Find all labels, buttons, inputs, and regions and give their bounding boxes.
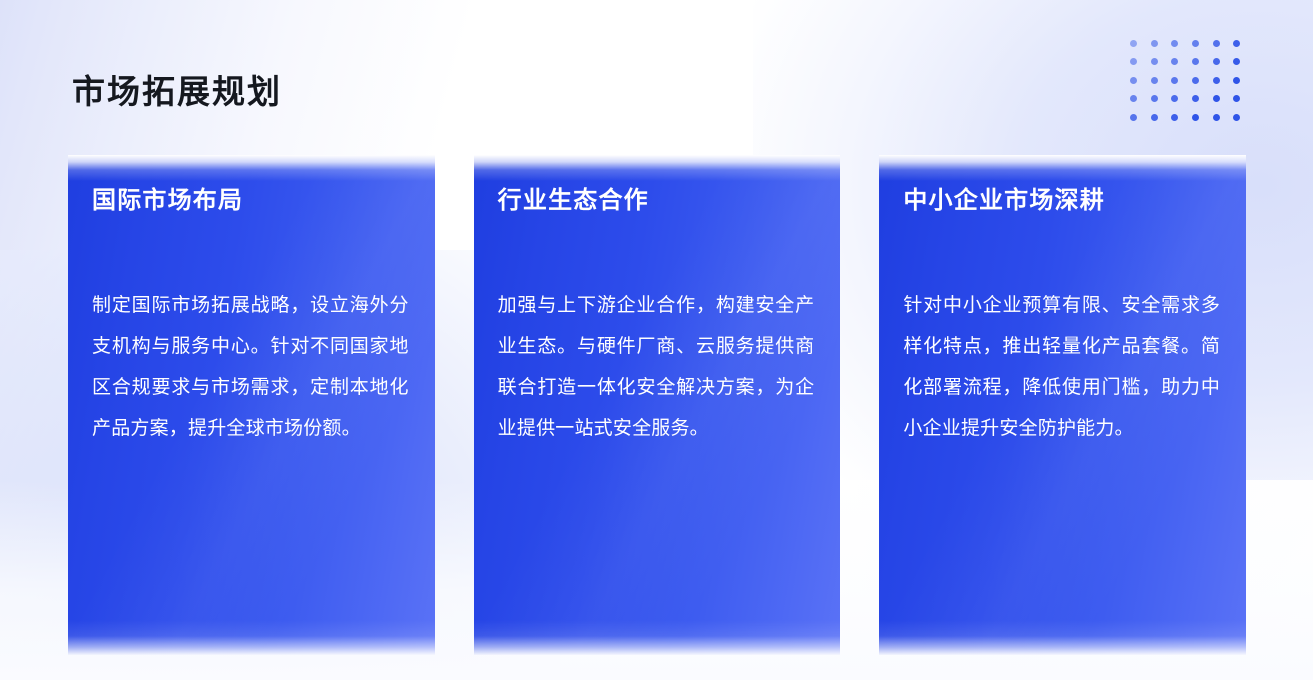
card-international-market[interactable]: 国际市场布局 制定国际市场拓展战略，设立海外分支机构与服务中心。针对不同国家地区…	[68, 155, 435, 655]
card-title: 行业生态合作	[498, 185, 815, 217]
decorative-dot	[1171, 95, 1178, 102]
decorative-dot	[1130, 77, 1137, 84]
card-sme-market[interactable]: 中小企业市场深耕 针对中小企业预算有限、安全需求多样化特点，推出轻量化产品套餐。…	[879, 155, 1246, 655]
page-title: 市场拓展规划	[72, 72, 282, 112]
decorative-dot	[1213, 114, 1220, 121]
decorative-dot	[1192, 114, 1199, 121]
card-body-text: 加强与上下游企业合作，构建安全产业生态。与硬件厂商、云服务提供商联合打造一体化安…	[498, 285, 815, 449]
decorative-dot	[1233, 58, 1240, 65]
decorative-dot	[1130, 114, 1137, 121]
decorative-dot	[1151, 58, 1158, 65]
cards-row: 国际市场布局 制定国际市场拓展战略，设立海外分支机构与服务中心。针对不同国家地区…	[68, 155, 1246, 655]
decorative-dot	[1213, 58, 1220, 65]
decorative-dot	[1233, 77, 1240, 84]
decorative-dot	[1171, 58, 1178, 65]
decorative-dot	[1171, 77, 1178, 84]
card-body-text: 针对中小企业预算有限、安全需求多样化特点，推出轻量化产品套餐。简化部署流程，降低…	[903, 285, 1220, 449]
card-title: 中小企业市场深耕	[903, 185, 1220, 217]
decorative-dot	[1171, 40, 1178, 47]
decorative-dot	[1130, 40, 1137, 47]
decorative-dot	[1233, 40, 1240, 47]
decorative-dot	[1192, 95, 1199, 102]
decorative-dot	[1233, 95, 1240, 102]
decorative-dot	[1151, 40, 1158, 47]
decorative-dot	[1213, 95, 1220, 102]
decorative-dot	[1130, 58, 1137, 65]
decorative-dot	[1213, 77, 1220, 84]
decorative-dot	[1192, 58, 1199, 65]
decorative-dot	[1171, 114, 1178, 121]
dot-grid-decoration	[1130, 40, 1254, 132]
decorative-dot	[1192, 77, 1199, 84]
slide-canvas: 市场拓展规划 国际市场布局 制定国际市场拓展战略，设立海外分支机构与服务中心。针…	[0, 0, 1313, 680]
decorative-dot	[1151, 114, 1158, 121]
card-content: 中小企业市场深耕 针对中小企业预算有限、安全需求多样化特点，推出轻量化产品套餐。…	[879, 155, 1246, 449]
decorative-dot	[1151, 77, 1158, 84]
card-industry-ecosystem[interactable]: 行业生态合作 加强与上下游企业合作，构建安全产业生态。与硬件厂商、云服务提供商联…	[474, 155, 841, 655]
decorative-dot	[1130, 95, 1137, 102]
decorative-dot	[1233, 114, 1240, 121]
decorative-dot	[1192, 40, 1199, 47]
card-content: 国际市场布局 制定国际市场拓展战略，设立海外分支机构与服务中心。针对不同国家地区…	[68, 155, 435, 449]
decorative-dot	[1213, 40, 1220, 47]
card-body-text: 制定国际市场拓展战略，设立海外分支机构与服务中心。针对不同国家地区合规要求与市场…	[92, 285, 409, 449]
card-title: 国际市场布局	[92, 185, 409, 217]
decorative-dot	[1151, 95, 1158, 102]
card-content: 行业生态合作 加强与上下游企业合作，构建安全产业生态。与硬件厂商、云服务提供商联…	[474, 155, 841, 449]
